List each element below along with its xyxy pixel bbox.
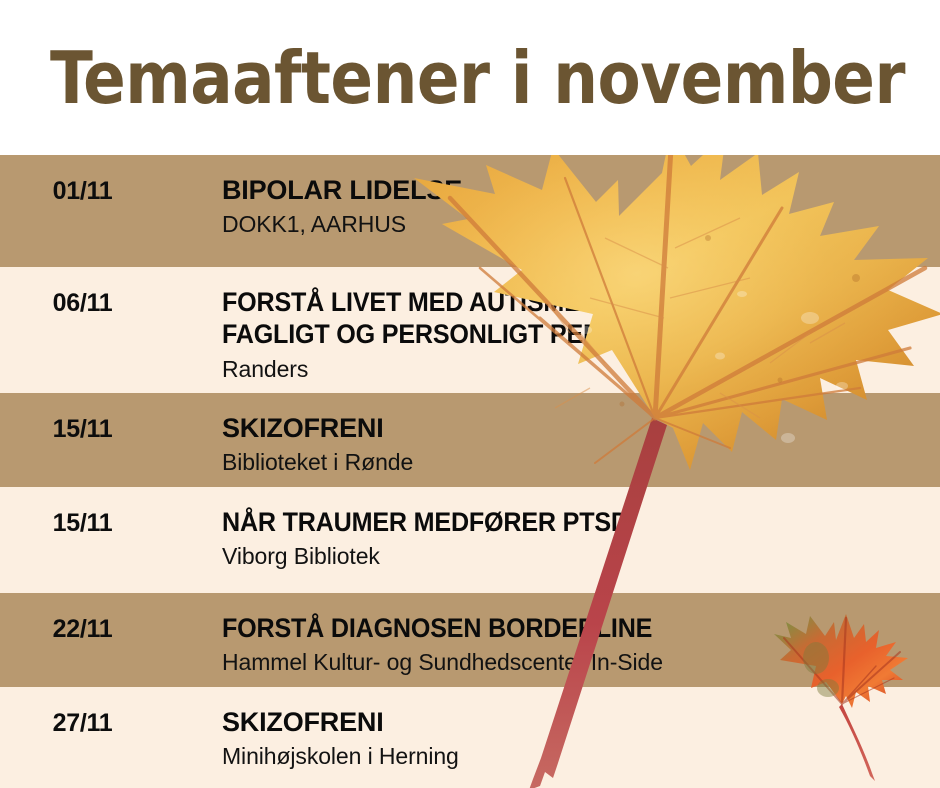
event-row[interactable]: 22/11 FORSTÅ DIAGNOSEN BORDERLINE Hammel… bbox=[0, 593, 940, 687]
event-venue: Viborg Bibliotek bbox=[222, 542, 940, 572]
event-row[interactable]: 15/11 SKIZOFRENI Biblioteket i Rønde bbox=[0, 393, 940, 487]
event-venue: DOKK1, AARHUS bbox=[222, 210, 940, 240]
event-date: 06/11 bbox=[0, 267, 165, 393]
event-body: SKIZOFRENI Biblioteket i Rønde bbox=[165, 393, 940, 487]
event-title: FORSTÅ LIVET MED AUTISME UD FRA ET FAGLI… bbox=[222, 286, 890, 351]
event-title: NÅR TRAUMER MEDFØRER PTSD bbox=[222, 506, 890, 538]
event-body: FORSTÅ DIAGNOSEN BORDERLINE Hammel Kultu… bbox=[165, 593, 940, 687]
event-row[interactable]: 01/11 BIPOLAR LIDELSE DOKK1, AARHUS bbox=[0, 155, 940, 267]
event-title: FORSTÅ DIAGNOSEN BORDERLINE bbox=[222, 612, 890, 644]
event-venue: Biblioteket i Rønde bbox=[222, 448, 940, 478]
event-row[interactable]: 15/11 NÅR TRAUMER MEDFØRER PTSD Viborg B… bbox=[0, 487, 940, 593]
event-venue: Randers bbox=[222, 355, 940, 385]
event-row[interactable]: 27/11 SKIZOFRENI Minihøjskolen i Herning bbox=[0, 687, 940, 788]
event-venue: Minihøjskolen i Herning bbox=[222, 742, 940, 772]
event-body: SKIZOFRENI Minihøjskolen i Herning bbox=[165, 687, 940, 788]
event-date: 15/11 bbox=[0, 393, 165, 487]
event-title: BIPOLAR LIDELSE bbox=[222, 174, 940, 206]
event-body: BIPOLAR LIDELSE DOKK1, AARHUS bbox=[165, 155, 940, 267]
event-date: 01/11 bbox=[0, 155, 165, 267]
event-date: 27/11 bbox=[0, 687, 165, 788]
event-venue: Hammel Kultur- og Sundhedscenter In-Side bbox=[222, 648, 940, 678]
event-title: SKIZOFRENI bbox=[222, 412, 940, 444]
event-date: 22/11 bbox=[0, 593, 165, 687]
event-date: 15/11 bbox=[0, 487, 165, 593]
event-body: FORSTÅ LIVET MED AUTISME UD FRA ET FAGLI… bbox=[165, 267, 940, 393]
event-body: NÅR TRAUMER MEDFØRER PTSD Viborg Bibliot… bbox=[165, 487, 940, 593]
poster-canvas: Temaaftener i november 01/11 BIPOLAR LID… bbox=[0, 0, 940, 788]
event-row[interactable]: 06/11 FORSTÅ LIVET MED AUTISME UD FRA ET… bbox=[0, 267, 940, 393]
page-title: Temaaftener i november bbox=[50, 42, 905, 114]
title-bar: Temaaftener i november bbox=[0, 0, 940, 155]
event-title: SKIZOFRENI bbox=[222, 706, 940, 738]
